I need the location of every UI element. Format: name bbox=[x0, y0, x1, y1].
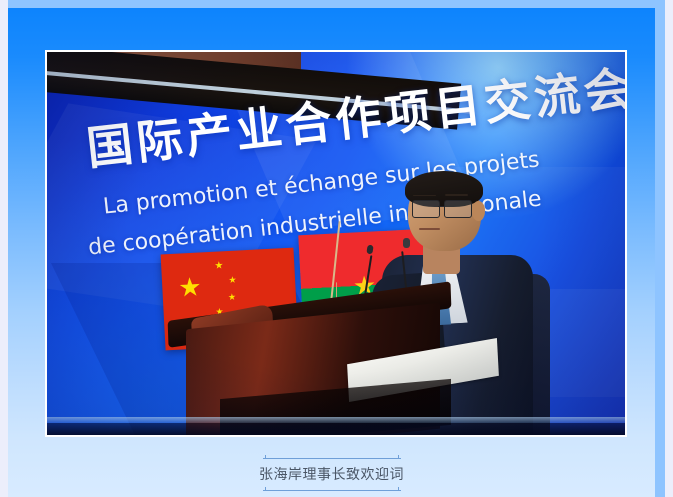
caption-tick-icon bbox=[263, 455, 268, 462]
microphone-head bbox=[403, 238, 410, 248]
conference-photo[interactable]: 国际产业合作项目交流会 La promotion et échange sur … bbox=[45, 50, 627, 437]
caption-tick-icon bbox=[396, 455, 401, 462]
photo-canvas: 国际产业合作项目交流会 La promotion et échange sur … bbox=[47, 52, 625, 435]
photo-caption: 张海岸理事长致欢迎词 bbox=[8, 455, 655, 494]
speaker-eyebrow bbox=[445, 194, 468, 196]
caption-rule-top bbox=[263, 455, 401, 462]
caption-text: 张海岸理事长致欢迎词 bbox=[259, 462, 404, 487]
speaker-ear bbox=[472, 201, 485, 220]
stage-floor-band bbox=[47, 423, 625, 435]
left-margin-strip bbox=[0, 0, 8, 497]
speaker-mouth bbox=[419, 228, 440, 230]
content-frame: 国际产业合作项目交流会 La promotion et échange sur … bbox=[8, 8, 655, 497]
caption-tick-icon bbox=[396, 487, 401, 494]
page-root: 国际产业合作项目交流会 La promotion et échange sur … bbox=[0, 0, 673, 497]
glasses-icon bbox=[444, 200, 473, 218]
caption-tick-icon bbox=[263, 487, 268, 494]
glasses-icon bbox=[412, 200, 441, 218]
glasses-bridge bbox=[438, 206, 443, 207]
caption-rule-bottom bbox=[263, 487, 401, 494]
